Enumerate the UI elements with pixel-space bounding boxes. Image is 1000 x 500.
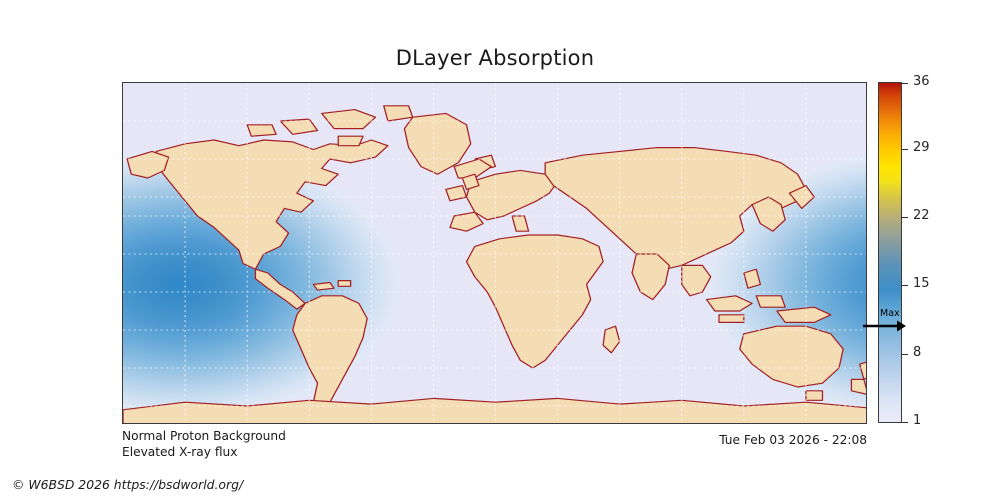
max-marker-label: Max xyxy=(880,308,900,319)
page-title: DLayer Absorption xyxy=(0,46,990,70)
tick-mark-icon xyxy=(902,354,908,355)
tick-mark-icon xyxy=(902,83,908,84)
tick-mark-icon xyxy=(902,149,908,150)
map-svg xyxy=(123,83,867,424)
dlayer-absorption-page: DLayer Absorption xyxy=(0,0,1000,500)
tick-mark-icon xyxy=(902,422,908,423)
world-map-plot[interactable] xyxy=(122,82,867,424)
copyright-notice: © W6BSD 2026 https://bsdworld.org/ xyxy=(12,477,243,492)
colorbar-ticks: 36 29 22 15 8 1 xyxy=(902,82,962,423)
tick-mark-icon xyxy=(902,217,908,218)
tick-mark-icon xyxy=(902,285,908,286)
note-line-1: Normal Proton Background xyxy=(122,429,286,445)
arrow-right-icon xyxy=(861,319,907,333)
colorbar[interactable] xyxy=(878,82,902,423)
note-line-2: Elevated X-ray flux xyxy=(122,445,286,461)
timestamp: Tue Feb 03 2026 - 22:08 xyxy=(600,433,867,447)
max-marker: Max xyxy=(861,308,907,334)
condition-notes: Normal Proton Background Elevated X-ray … xyxy=(122,429,286,460)
